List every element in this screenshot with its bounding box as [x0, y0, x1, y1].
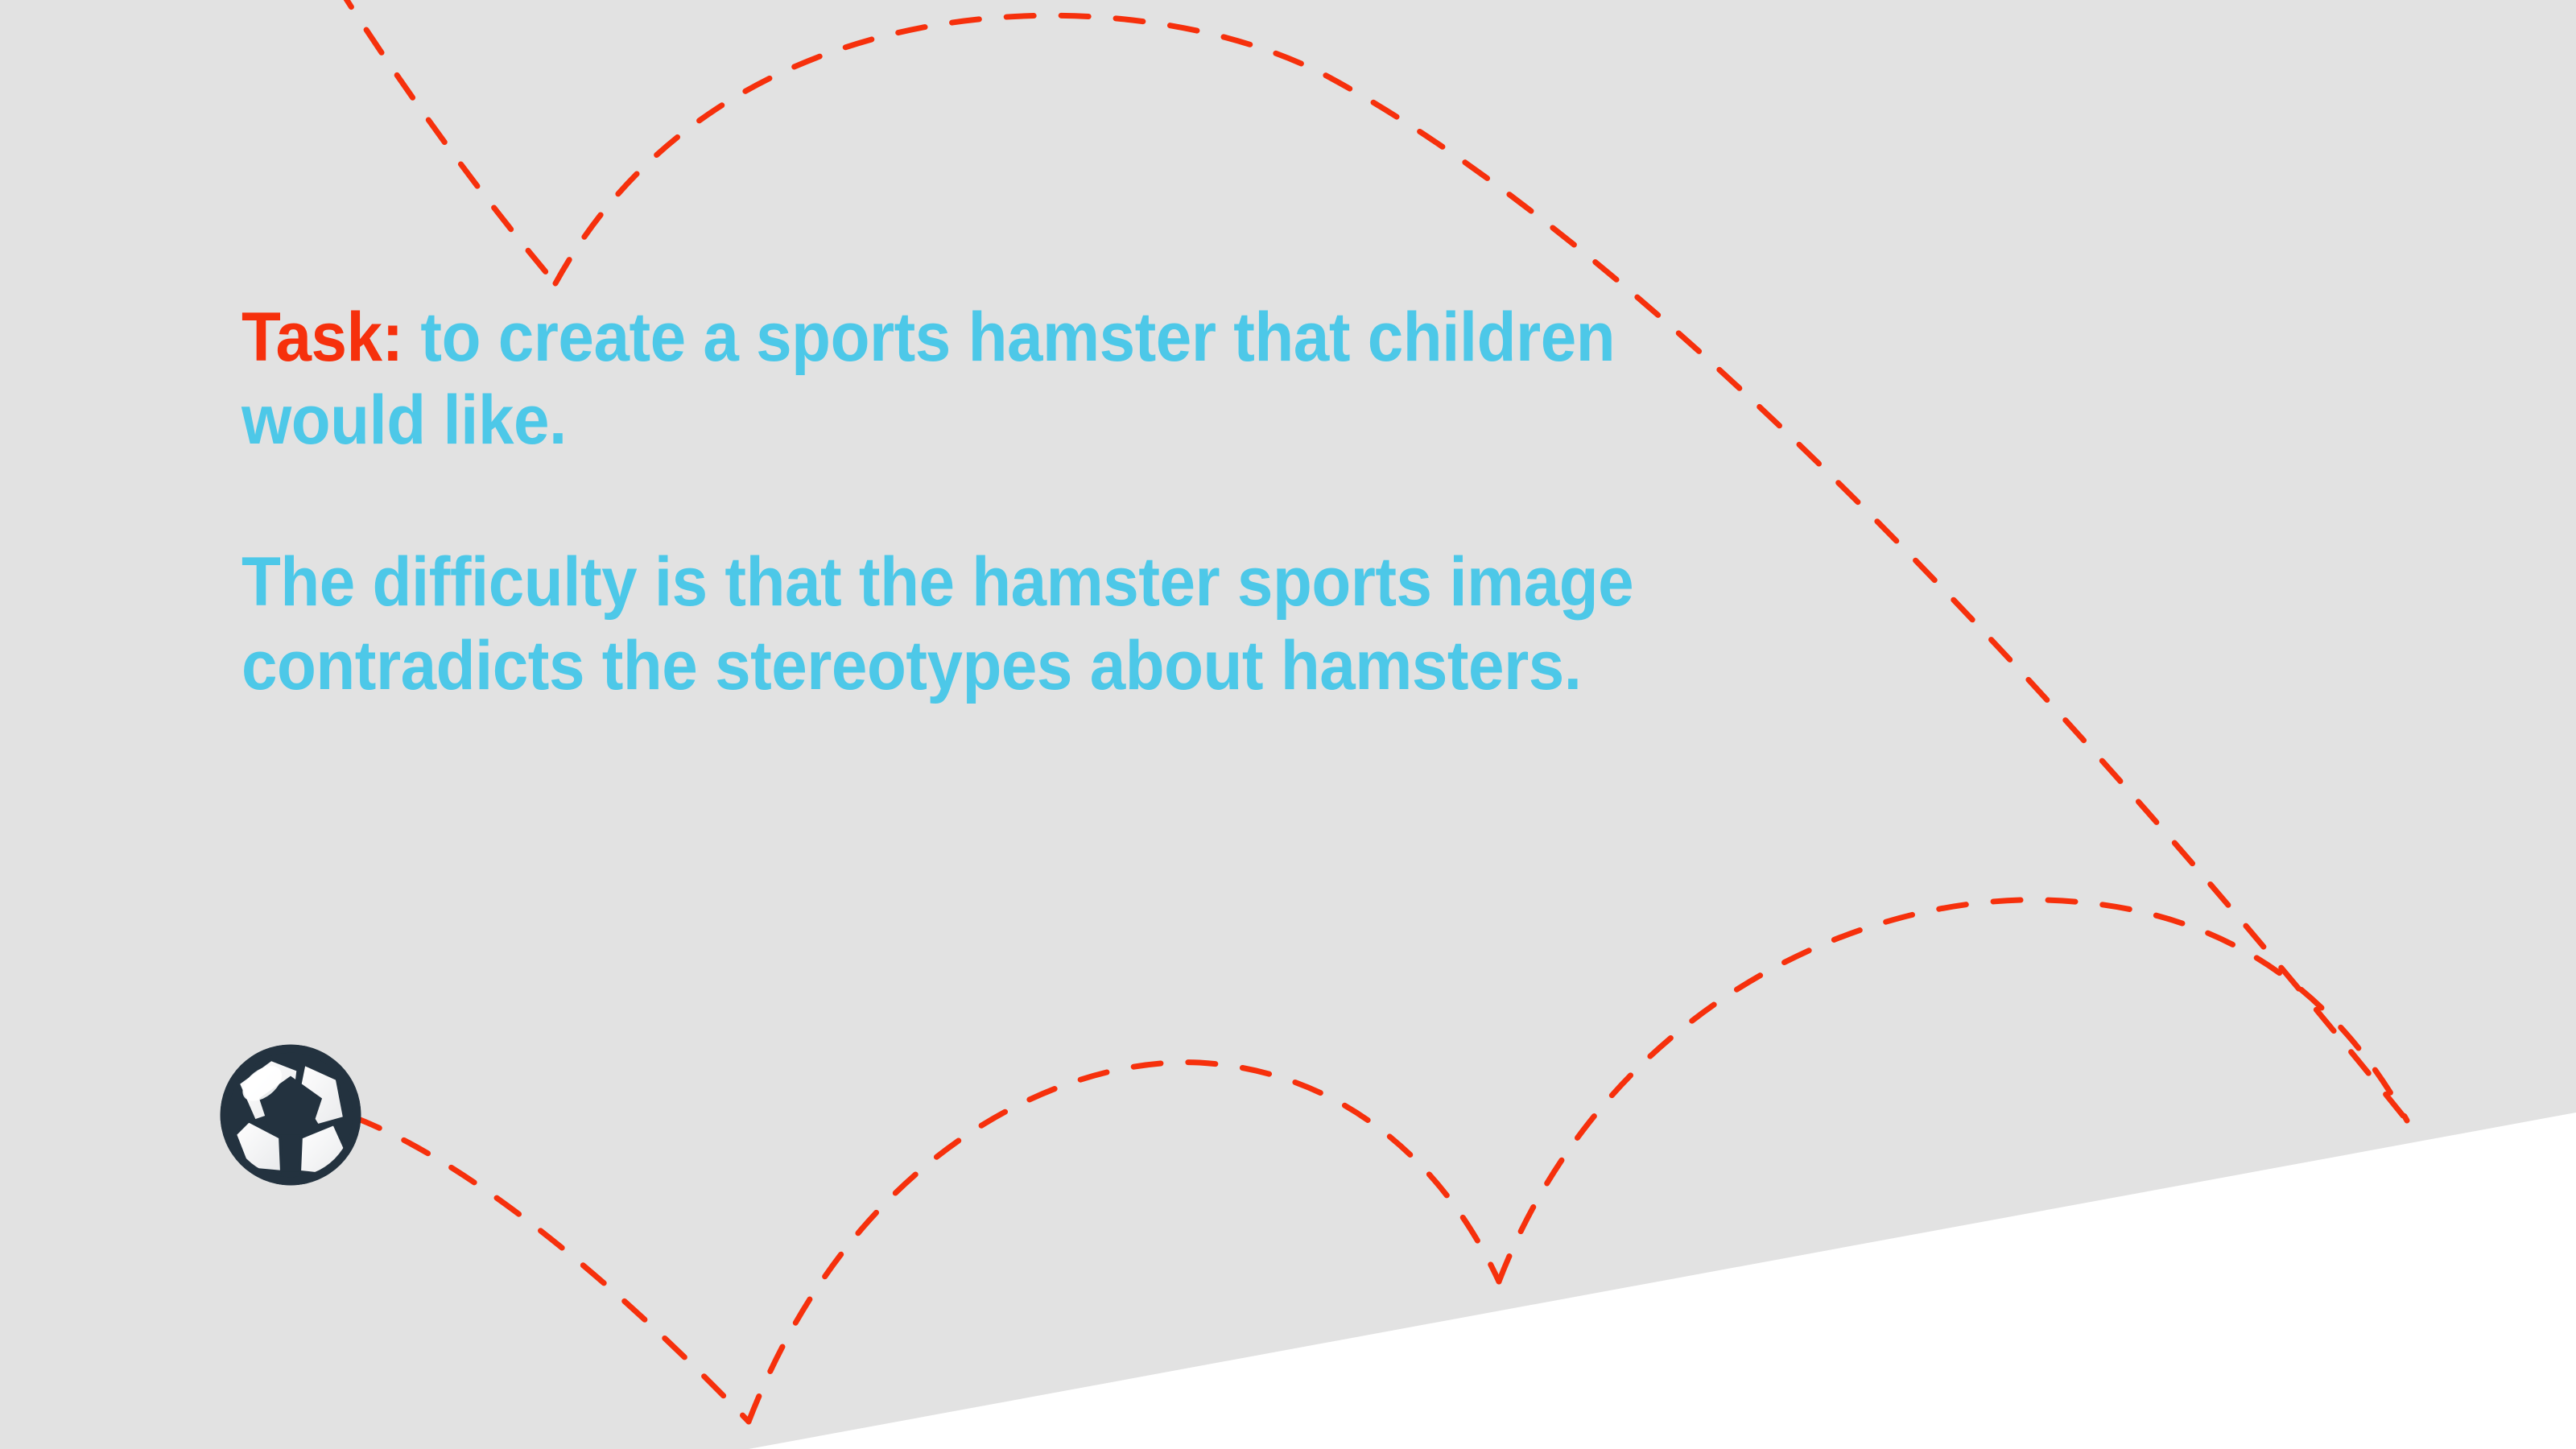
gray-panel-shape: [0, 0, 2576, 1449]
task-label: Task:: [242, 299, 403, 376]
slide-text-block: Task: to create a sports hamster that ch…: [242, 296, 1932, 708]
task-description: to create a sports hamster that children…: [242, 299, 1615, 459]
slide-canvas: Task: to create a sports hamster that ch…: [0, 0, 2576, 1449]
task-paragraph: Task: to create a sports hamster that ch…: [242, 296, 1814, 462]
soccer-ball-icon: [216, 1040, 365, 1190]
background-panel: [0, 0, 2576, 1449]
difficulty-paragraph: The difficulty is that the hamster sport…: [242, 541, 1814, 707]
